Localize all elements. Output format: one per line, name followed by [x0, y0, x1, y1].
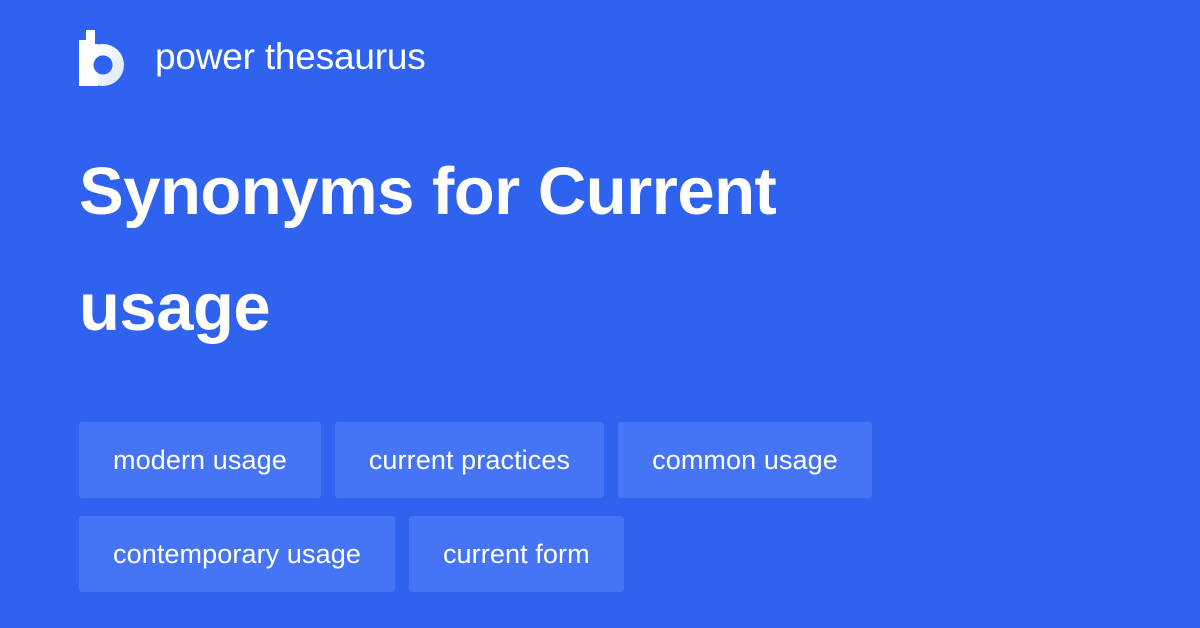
- power-thesaurus-b-logo-icon: [79, 30, 129, 86]
- synonym-chip-list: modern usage current practices common us…: [79, 422, 1121, 592]
- synonym-chip[interactable]: common usage: [618, 422, 872, 498]
- synonym-chip[interactable]: current practices: [335, 422, 604, 498]
- brand-logo[interactable]: power thesaurus: [79, 27, 426, 89]
- synonym-chip[interactable]: modern usage: [79, 422, 321, 498]
- page-title: Synonyms for Current usage: [79, 134, 979, 366]
- synonym-chip[interactable]: current form: [409, 516, 624, 592]
- synonym-chip[interactable]: contemporary usage: [79, 516, 395, 592]
- brand-name: power thesaurus: [155, 38, 426, 78]
- share-card: power thesaurus Synonyms for Current usa…: [0, 0, 1200, 628]
